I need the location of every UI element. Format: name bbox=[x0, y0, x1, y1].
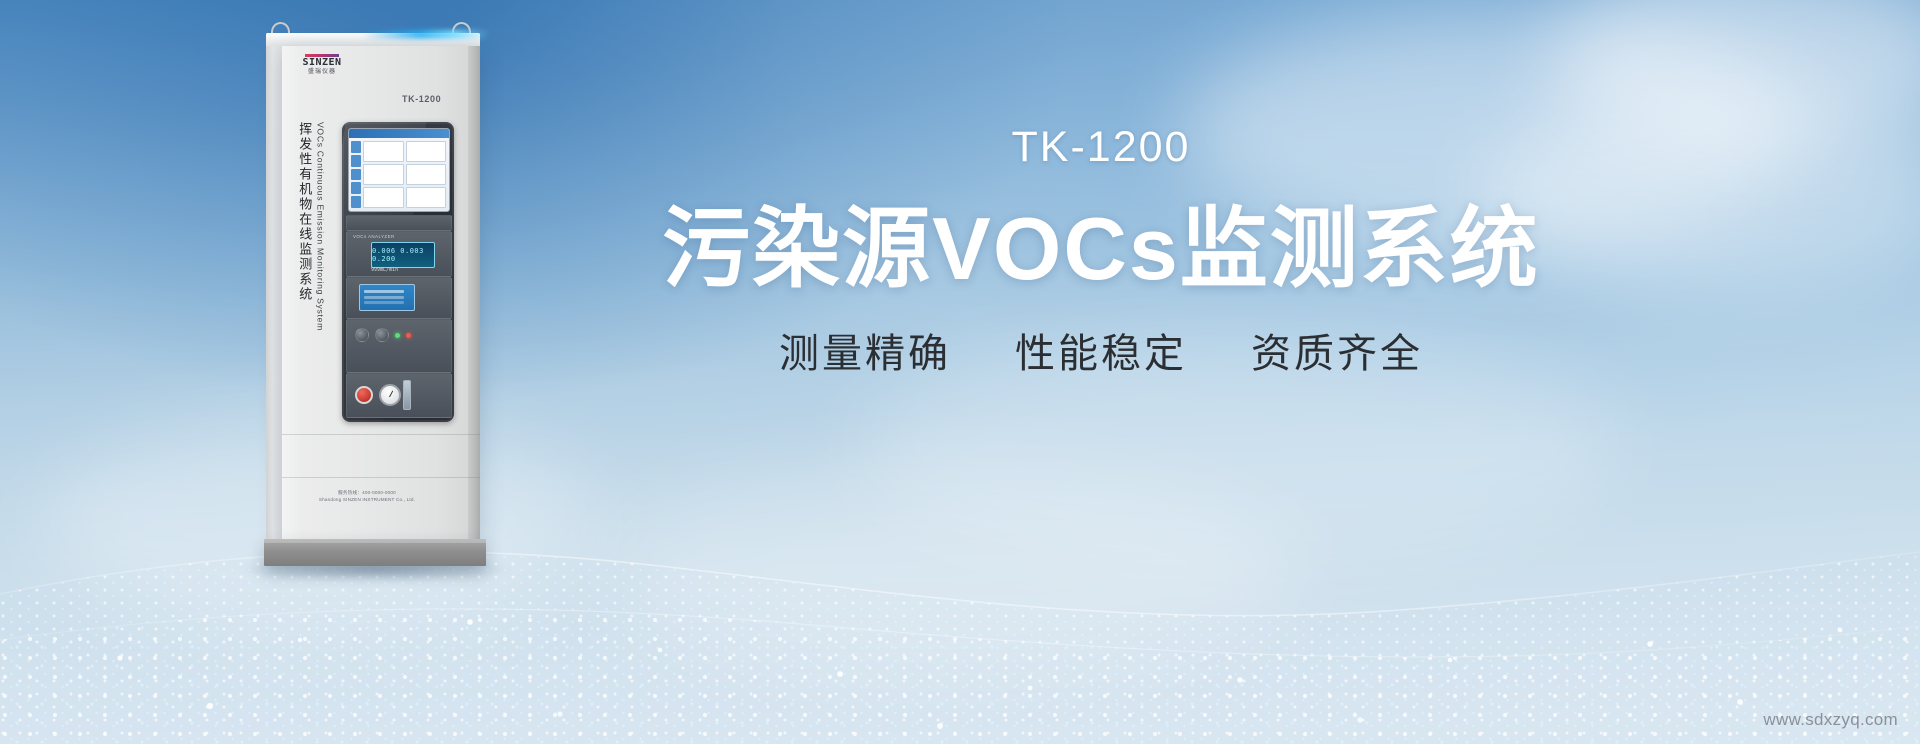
hmi-readout-grid bbox=[363, 141, 446, 208]
panel-seam bbox=[282, 477, 480, 478]
banner-model-label: TK-1200 bbox=[556, 126, 1646, 169]
pressure-gauge-icon bbox=[379, 384, 401, 406]
panel-seam bbox=[282, 434, 480, 435]
product-banner: SINZEN 盛瑞仪器 TK-1200 挥发性有机物在线监测系统 VOCs Co… bbox=[0, 0, 1920, 744]
emergency-stop-button-icon bbox=[355, 386, 373, 404]
site-watermark: www.sdxzyq.com bbox=[1763, 710, 1898, 730]
cabinet-glass-door: VOCs ANALYZER 0.006 0.003 0.200 999mL/mi… bbox=[342, 122, 454, 422]
analyzer-flow-readout: 999mL/min bbox=[371, 267, 398, 273]
cabinet-vertical-title-en: VOCs Continuous Emission Monitoring Syst… bbox=[316, 122, 325, 331]
cabinet-right-edge bbox=[468, 46, 480, 540]
banner-main-title: 污染源VOCs监测系统 bbox=[556, 201, 1646, 296]
hmi-titlebar bbox=[349, 129, 449, 138]
feature-item: 测量精确 bbox=[779, 330, 951, 378]
product-cabinet-image: SINZEN 盛瑞仪器 TK-1200 挥发性有机物在线监测系统 VOCs Co… bbox=[262, 22, 487, 570]
analyzer-label: VOCs ANALYZER bbox=[353, 234, 395, 239]
feature-item: 性能稳定 bbox=[1015, 330, 1187, 378]
cabinet-accent-glow bbox=[362, 30, 490, 39]
cabinet-base-plinth bbox=[264, 539, 486, 566]
hmi-touchscreen bbox=[348, 128, 450, 212]
cabinet-left-panel bbox=[266, 46, 282, 540]
valve-gauge-module bbox=[346, 373, 452, 418]
controller-lcd bbox=[359, 284, 415, 311]
status-led-red-icon bbox=[406, 333, 411, 338]
cabinet-footer-en: Shandong SINZEN INSTRUMENT Co., Ltd. bbox=[292, 497, 442, 504]
cabinet-footer-cn: 服务热线：400-0000-0000 bbox=[292, 490, 442, 497]
brand-name: SINZEN bbox=[294, 58, 350, 68]
pump-control-module bbox=[346, 319, 452, 373]
banner-text-block: TK-1200 污染源VOCs监测系统 测量精确 性能稳定 资质齐全 bbox=[556, 126, 1646, 378]
banner-feature-list: 测量精确 性能稳定 资质齐全 bbox=[556, 330, 1646, 378]
feature-item: 资质齐全 bbox=[1251, 330, 1423, 378]
filter-tube-icon bbox=[403, 380, 411, 410]
controller-module bbox=[346, 277, 452, 319]
instrument-module bbox=[346, 215, 452, 231]
cabinet-footer-text: 服务热线：400-0000-0000 Shandong SINZEN INSTR… bbox=[292, 490, 442, 503]
brand-logo: SINZEN 盛瑞仪器 bbox=[294, 54, 350, 76]
brand-name-cn: 盛瑞仪器 bbox=[294, 69, 350, 76]
control-knob bbox=[375, 328, 389, 342]
cabinet-vertical-title-cn: 挥发性有机物在线监测系统 bbox=[294, 122, 313, 302]
analyzer-display: 0.006 0.003 0.200 bbox=[371, 242, 435, 268]
control-knob bbox=[355, 328, 369, 342]
analyzer-module: VOCs ANALYZER 0.006 0.003 0.200 999mL/mi… bbox=[346, 231, 452, 277]
cabinet-model-plate: TK-1200 bbox=[402, 94, 441, 104]
control-knob-row bbox=[355, 328, 411, 342]
status-led-green-icon bbox=[395, 333, 400, 338]
hmi-side-buttons bbox=[351, 141, 361, 208]
